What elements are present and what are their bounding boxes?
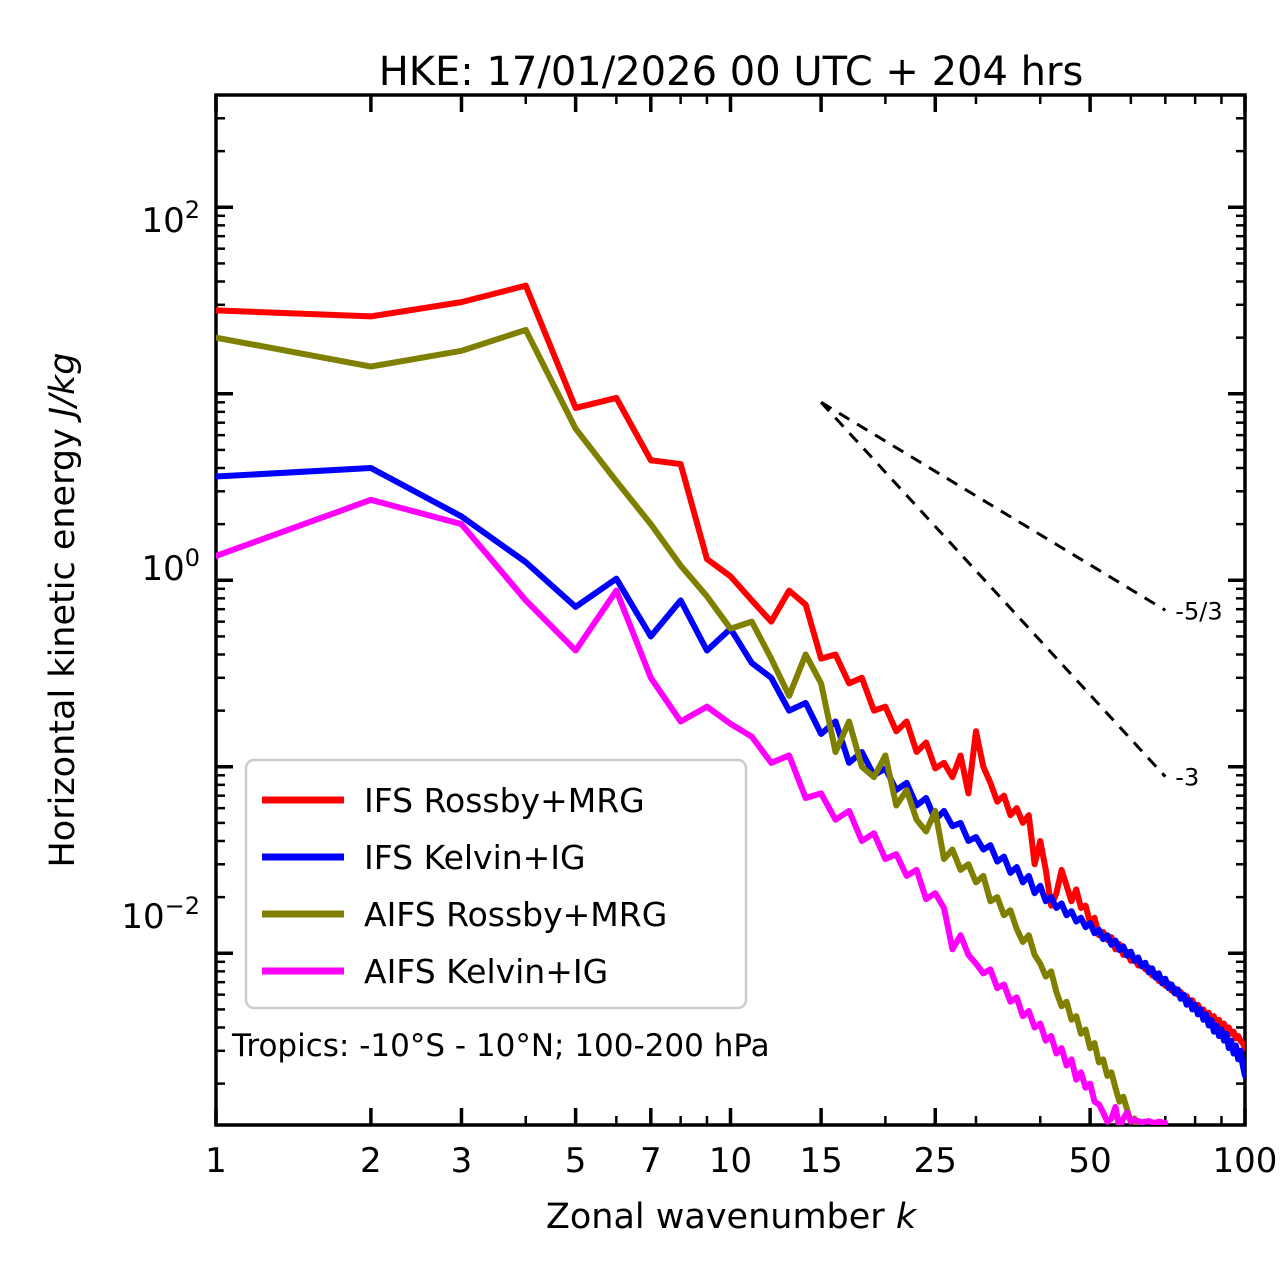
hke-spectrum-chart: HKE: 17/01/2026 00 UTC + 204 hrs 102 100… (0, 0, 1280, 1288)
x-tick-label-50: 50 (1068, 1141, 1111, 1181)
x-tick-label-10: 10 (709, 1141, 752, 1181)
x-tick-label-100: 100 (1213, 1141, 1278, 1181)
x-axis-label: Zonal wavenumber k (546, 1197, 918, 1237)
x-tick-label-3: 3 (451, 1141, 473, 1181)
reference-label--3: -3 (1175, 764, 1199, 792)
x-tick-label-15: 15 (799, 1141, 842, 1181)
x-tick-label-7: 7 (640, 1141, 662, 1181)
x-tick-label-1: 1 (205, 1141, 227, 1181)
legend-label-2: AIFS Rossby+MRG (364, 895, 667, 934)
region-annotation: Tropics: -10°S - 10°N; 100-200 hPa (231, 1028, 770, 1064)
x-tick-label-2: 2 (360, 1141, 382, 1181)
y-axis-label: Horizontal kinetic energy J/kg (43, 352, 83, 867)
figure-container: HKE: 17/01/2026 00 UTC + 204 hrs 102 100… (0, 0, 1280, 1288)
x-tick-label-25: 25 (914, 1141, 957, 1181)
page-title: HKE: 17/01/2026 00 UTC + 204 hrs (379, 49, 1084, 95)
legend-label-1: IFS Kelvin+IG (364, 838, 586, 877)
chart-legend: IFS Rossby+MRGIFS Kelvin+IGAIFS Rossby+M… (246, 760, 746, 1008)
legend-label-3: AIFS Kelvin+IG (364, 952, 608, 991)
x-tick-label-5: 5 (565, 1141, 587, 1181)
legend-label-0: IFS Rossby+MRG (364, 781, 645, 820)
reference-label--5-3: -5/3 (1175, 597, 1222, 625)
